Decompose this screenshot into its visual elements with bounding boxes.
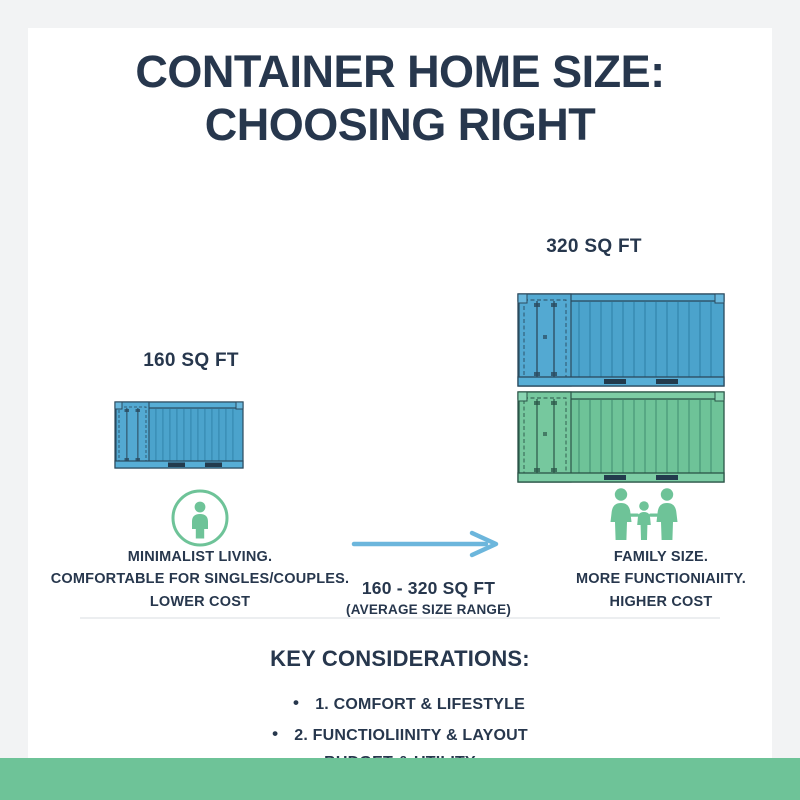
list-item: •2. FUNCTIOLIINITY & LAYOUT	[28, 719, 772, 750]
single-person-in-circle-icon	[168, 486, 232, 550]
infographic-canvas: CONTAINER HOME SIZE: CHOOSING RIGHT 160 …	[0, 0, 800, 800]
bottom-accent-bar	[0, 758, 800, 800]
page-title: CONTAINER HOME SIZE: CHOOSING RIGHT	[28, 46, 772, 151]
right-caption-line-3: HIGHER COST	[536, 591, 786, 613]
size-range-sublabel: (AVERAGE SIZE RANGE)	[346, 602, 511, 617]
single-shipping-container-illustration	[113, 398, 245, 474]
right-arrow-icon	[346, 528, 511, 560]
right-option-caption: FAMILY SIZE. MORE FUNCTIONIAIITY. HIGHER…	[536, 546, 786, 613]
right-caption-line-2: MORE FUNCTIONIAIITY.	[536, 568, 786, 590]
size-range-label: 160 - 320 SQ FT	[346, 578, 511, 599]
stacked-container-bottom-illustration	[516, 388, 726, 486]
bullet-icon: •	[293, 688, 299, 717]
left-caption-line-1: MINIMALIST LIVING.	[40, 546, 360, 568]
family-of-three-icon	[603, 486, 685, 542]
section-divider	[80, 617, 720, 619]
title-line-2: CHOOSING RIGHT	[28, 99, 772, 152]
stacked-container-top-illustration	[516, 290, 726, 390]
left-option-caption: MINIMALIST LIVING. COMFORTABLE FOR SINGL…	[40, 546, 360, 613]
list-item-label: 1. COMFORT & LIFESTYLE	[315, 696, 525, 713]
list-item-label: 2. FUNCTIOLIINITY & LAYOUT	[294, 727, 528, 744]
left-caption-line-3: LOWER COST	[40, 591, 360, 613]
size-range-group: 160 - 320 SQ FT (AVERAGE SIZE RANGE)	[346, 528, 511, 617]
right-caption-line-1: FAMILY SIZE.	[536, 546, 786, 568]
bullet-icon: •	[272, 719, 278, 748]
title-line-1: CONTAINER HOME SIZE:	[28, 46, 772, 99]
infographic-card: CONTAINER HOME SIZE: CHOOSING RIGHT 160 …	[28, 28, 772, 758]
right-size-label: 320 SQ FT	[474, 236, 714, 258]
left-size-label: 160 SQ FT	[96, 350, 286, 372]
key-considerations-heading: KEY CONSIDERATIONS:	[28, 646, 772, 672]
left-caption-line-2: COMFORTABLE FOR SINGLES/COUPLES.	[40, 568, 360, 590]
list-item: •1. COMFORT & LIFESTYLE	[28, 688, 772, 719]
